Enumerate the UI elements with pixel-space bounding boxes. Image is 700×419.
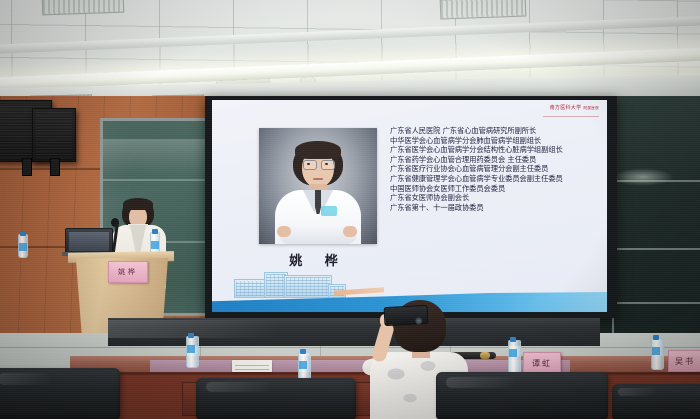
slide-speaker-name: 姚 桦 xyxy=(259,250,377,269)
chair xyxy=(436,372,608,419)
loudspeaker-left xyxy=(32,108,76,162)
window-reflection xyxy=(612,168,674,186)
logo-main-text: 南方医科大学 xyxy=(550,105,582,111)
speaker-bracket xyxy=(22,158,32,176)
chair xyxy=(612,384,700,419)
hospital-building-illustration xyxy=(230,272,380,298)
credential-line: 广东省女医师协会副会长 xyxy=(390,193,602,203)
table-name-card: 吴书 xyxy=(668,350,700,372)
conference-photo-scene: 南方医科大学附属医院 姚 桦 广东省人民医院 广东省心血管病研究所 xyxy=(0,0,700,419)
credential-line: 中华医学会心血管病学分会肺血管病学组副组长 xyxy=(390,136,602,146)
logo-underline xyxy=(543,116,599,117)
slide-credentials-list: 广东省人民医院 广东省心血管病研究所副所长 中华医学会心血管病学分会肺血管病学组… xyxy=(390,126,602,212)
credential-line: 广东省人民医院 广东省心血管病研究所副所长 xyxy=(390,126,602,136)
ceiling-air-vent xyxy=(440,0,527,19)
stage-riser-glare xyxy=(108,320,600,338)
chair xyxy=(0,368,120,419)
water-bottle xyxy=(651,338,664,370)
credential-line: 广东省健康管理学会心血管病学专业委员会副主任委员 xyxy=(390,174,602,184)
chair xyxy=(196,378,356,419)
water-bottle xyxy=(18,234,28,258)
paper-document xyxy=(232,360,272,372)
credential-line: 广东省医疗行业协会心血管病管理分会副主任委员 xyxy=(390,164,602,174)
water-bottle xyxy=(508,340,521,374)
podium-name-card: 姚桦 xyxy=(108,261,148,283)
credential-line: 广东省药学会心血管合理用药委员会 主任委员 xyxy=(390,155,602,165)
water-bottle xyxy=(186,336,199,368)
camera-lens-icon xyxy=(415,317,422,324)
credential-line: 广东省第十、十一届政协委员 xyxy=(390,203,602,213)
speaker-portrait-photo xyxy=(259,128,377,244)
speaker-bracket xyxy=(50,158,60,176)
credential-line: 中国医师协会女医师工作委员会委员 xyxy=(390,184,602,194)
projection-screen: 南方医科大学附属医院 姚 桦 广东省人民医院 广东省心血管病研究所 xyxy=(212,100,607,312)
credential-line: 广东省医学会心血管病学分会结构性心脏病学组副组长 xyxy=(390,145,602,155)
table-name-card: 谭虹 xyxy=(523,352,561,374)
smartphone xyxy=(384,305,429,326)
logo-sub-text: 附属医院 xyxy=(583,106,599,110)
hospital-logo: 南方医科大学附属医院 xyxy=(550,106,599,111)
